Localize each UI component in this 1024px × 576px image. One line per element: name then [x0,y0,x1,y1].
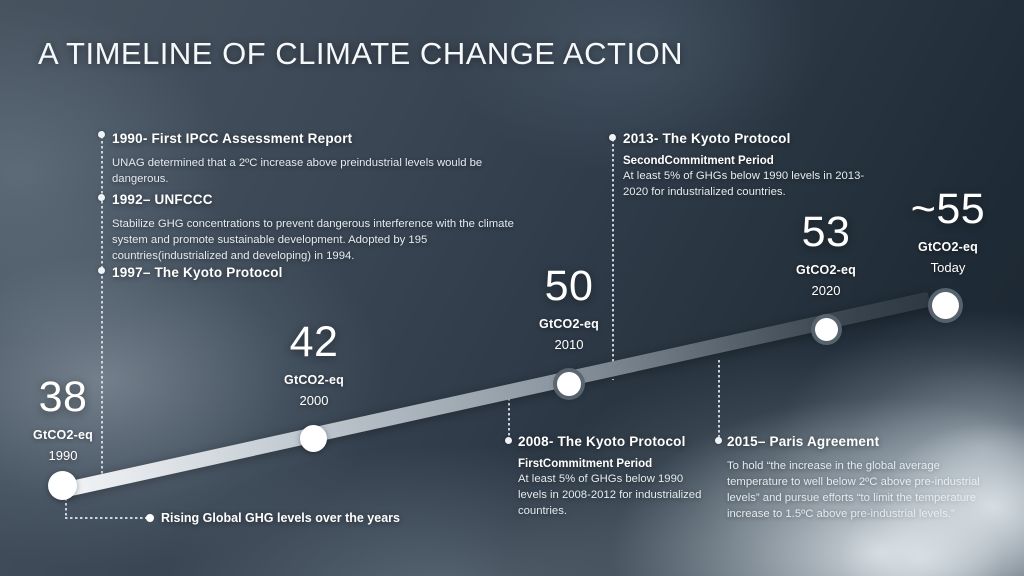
annotation-body: UNAG determined that a 2ºC increase abov… [112,155,532,187]
annotation-subhead: First⁠Commitment Period [518,458,710,470]
page-title: A TIMELINE OF CLIMATE CHANGE ACTION [38,36,683,72]
connector-dot-1992 [98,194,105,201]
annotation-1990: 1990- First IPCC Assessment Report UNAG … [112,131,532,187]
data-node-1990[interactable] [48,471,77,500]
value-year: 1990 [13,448,113,463]
value-year: 2020 [776,283,876,298]
annotation-heading: 2008- The Kyoto Protocol [518,434,710,449]
annotation-body: To hold “the increase in the global aver… [727,458,1002,522]
connector-dot-2013 [609,134,616,141]
value-number: ~55 [895,188,1001,231]
value-year: 2000 [264,393,364,408]
value-group-2020: 53 GtCO2-eq 2020 [776,211,876,298]
annotation-body: At least 5% of GHGs below 1990 levels in… [623,168,883,200]
annotation-body: At least 5% of GHGs below 1990 levels in… [518,471,710,519]
connector-dot-1997 [98,267,105,274]
value-number: 50 [519,265,619,308]
value-number: 42 [264,321,364,364]
value-unit: GtCO2-eq [519,317,619,331]
annotation-2008: 2008- The Kyoto Protocol First⁠Commitmen… [518,434,710,519]
data-node-2000[interactable] [300,425,327,452]
value-unit: GtCO2-eq [264,373,364,387]
annotation-heading: 1990- First IPCC Assessment Report [112,131,532,146]
annotation-heading: 1992– UNFCCC [112,192,532,207]
connector-line-caption-horizontal [65,517,147,519]
annotation-body: Stabilize GHG concentrations to prevent … [112,216,532,264]
connector-line-2015 [718,360,720,440]
value-unit: GtCO2-eq [13,428,113,442]
value-year: Today [895,260,1001,275]
connector-line-2008 [508,398,510,440]
annotation-2015: 2015– Paris Agreement To hold “the incre… [727,434,1002,522]
connector-dot-2015 [715,437,722,444]
infographic-canvas: A TIMELINE OF CLIMATE CHANGE ACTION 38 G… [0,0,1024,576]
value-year: 2010 [519,337,619,352]
annotation-1992: 1992– UNFCCC Stabilize GHG concentration… [112,192,532,264]
data-node-today[interactable] [932,292,959,319]
annotation-1997: 1997– The Kyoto Protocol [112,265,532,280]
value-group-1990: 38 GtCO2-eq 1990 [13,376,113,463]
annotation-heading: 2015– Paris Agreement [727,434,1002,449]
chart-caption: Rising Global GHG levels over the years [161,511,400,525]
annotation-2013: 2013- The Kyoto Protocol Second⁠Commitme… [623,131,883,200]
connector-line-caption [65,498,67,518]
value-unit: GtCO2-eq [776,263,876,277]
connector-dot-2008 [505,437,512,444]
value-group-2000: 42 GtCO2-eq 2000 [264,321,364,408]
value-group-today: ~55 GtCO2-eq Today [895,188,1001,275]
annotation-heading: 1997– The Kyoto Protocol [112,265,532,280]
caption-dot [146,514,154,522]
annotation-heading: 2013- The Kyoto Protocol [623,131,883,146]
value-number: 53 [776,211,876,254]
connector-dot-1990 [98,131,105,138]
value-group-2010: 50 GtCO2-eq 2010 [519,265,619,352]
data-node-2020[interactable] [815,318,838,341]
value-number: 38 [13,376,113,419]
annotation-subhead: Second⁠Commitment Period [623,155,883,167]
data-node-2010[interactable] [557,372,581,396]
value-unit: GtCO2-eq [895,240,1001,254]
